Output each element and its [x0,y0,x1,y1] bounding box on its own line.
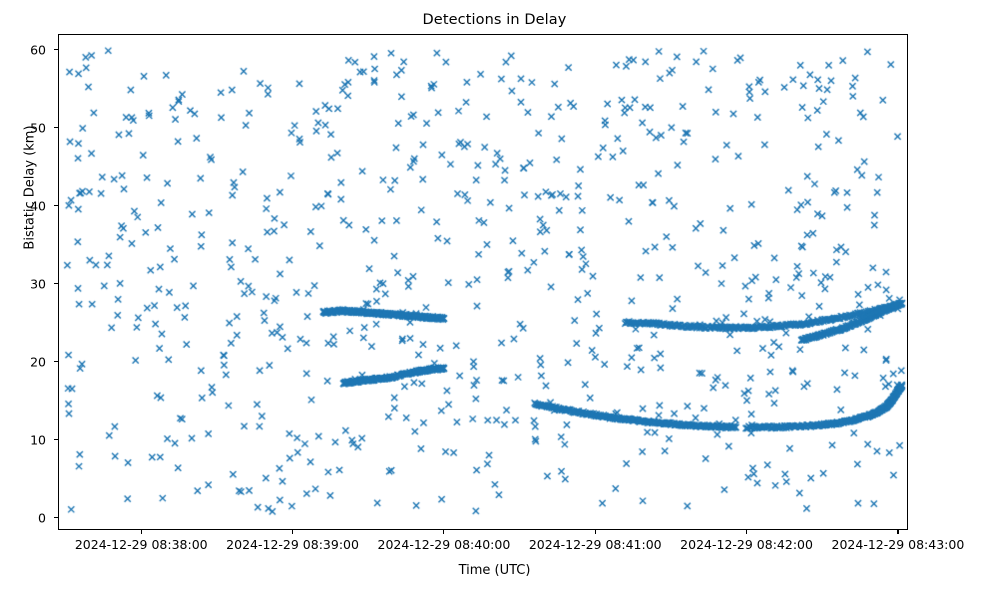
y-tick-label: 0 [0,510,46,525]
y-tick-mark [54,517,58,518]
x-tick-label: 2024-12-29 08:41:00 [529,537,662,552]
y-tick-label: 60 [0,42,46,57]
plot-axes-area [58,34,908,530]
y-tick-mark [54,439,58,440]
y-tick-label: 20 [0,354,46,369]
y-tick-label: 10 [0,432,46,447]
scatter-plot-canvas [59,35,907,529]
y-tick-mark [54,283,58,284]
x-tick-mark [443,530,444,534]
chart-title: Detections in Delay [0,12,989,28]
x-tick-mark [141,530,142,534]
x-axis-label: Time (UTC) [0,563,989,578]
y-tick-mark [54,361,58,362]
x-tick-label: 2024-12-29 08:40:00 [378,537,511,552]
y-axis-label: Bistatic Delay (km) [23,73,38,303]
x-tick-mark [746,530,747,534]
x-tick-mark [595,530,596,534]
figure-canvas: Detections in Delay 0102030405060 2024-1… [0,0,989,590]
y-tick-mark [54,205,58,206]
x-tick-label: 2024-12-29 08:42:00 [680,537,813,552]
x-tick-label: 2024-12-29 08:38:00 [75,537,208,552]
y-tick-mark [54,127,58,128]
x-tick-mark [897,530,898,534]
x-tick-label: 2024-12-29 08:43:00 [832,537,965,552]
y-tick-mark [54,49,58,50]
x-tick-mark [292,530,293,534]
x-tick-label: 2024-12-29 08:39:00 [226,537,359,552]
